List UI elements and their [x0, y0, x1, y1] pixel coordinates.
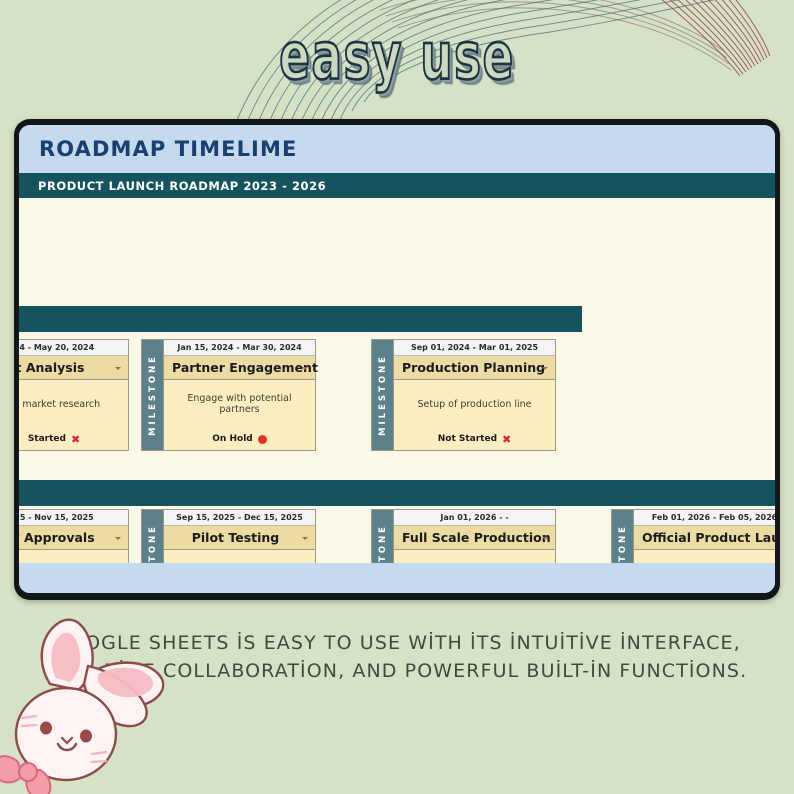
chevron-down-icon[interactable]	[302, 367, 308, 370]
milestone-rail: MILESTONE	[142, 340, 164, 450]
card-main: Jan 15, 2024 - Mar 30, 2024Partner Engag…	[164, 340, 315, 450]
card-header[interactable]: Partner Engagement	[164, 356, 315, 380]
card-title: Partner Engagement	[172, 360, 318, 375]
status-badge[interactable]: On Hold	[164, 428, 315, 450]
card-title: Full Scale Production	[402, 530, 551, 545]
card-date-range: Feb 01, 2026 - Feb 05, 2026	[634, 510, 775, 526]
card-gap	[129, 339, 141, 451]
status-label: Not Started	[438, 434, 497, 444]
status-label: Started	[28, 434, 66, 444]
chevron-down-icon[interactable]	[302, 537, 308, 540]
card-description: Setup of production line	[394, 380, 555, 428]
card-header[interactable]: Official Product Launch	[634, 526, 775, 550]
card-gap	[316, 339, 371, 451]
card-date-range: Sep 15, 2025 - Dec 15, 2025	[164, 510, 315, 526]
card-date-range: 24 - May 20, 2024	[19, 340, 128, 356]
status-badge[interactable]: Not Started✖	[394, 428, 555, 450]
card-date-range: 25 - Nov 15, 2025	[19, 510, 128, 526]
card-description: Engage with potential partners	[164, 380, 315, 428]
milestone-card[interactable]: MILESTONE24 - May 20, 2024t Analysisve m…	[19, 339, 129, 451]
card-header[interactable]: t Analysis	[19, 356, 128, 380]
milestone-rail-label: MILESTONE	[378, 354, 388, 436]
card-title: ry Approvals	[19, 530, 112, 545]
x-mark-icon: ✖	[502, 434, 511, 445]
sheet-footer-strip	[19, 563, 775, 593]
card-main: 24 - May 20, 2024t Analysisve market res…	[19, 340, 128, 450]
caption-line-1: GOOGLE SHEETS İS EASY TO USE WİTH İTS İN…	[0, 630, 794, 658]
caption-line-2: REAL-TİME COLLABORATİON, AND POWERFUL BU…	[0, 658, 794, 686]
timeline-bar-row2	[19, 480, 775, 506]
page-subtitle: PRODUCT LAUNCH ROADMAP 2023 - 2026	[38, 179, 326, 193]
chevron-down-icon[interactable]	[115, 367, 121, 370]
caption: GOOGLE SHEETS İS EASY TO USE WİTH İTS İN…	[0, 630, 794, 685]
card-date-range: Jan 01, 2026 - -	[394, 510, 555, 526]
headline-text: easy use	[279, 18, 515, 94]
chevron-down-icon[interactable]	[542, 537, 548, 540]
card-date-range: Jan 15, 2024 - Mar 30, 2024	[164, 340, 315, 356]
page-title: ROADMAP TIMELIME	[39, 137, 297, 161]
x-mark-icon: ✖	[71, 434, 80, 445]
card-title: t Analysis	[19, 360, 112, 375]
card-header[interactable]: Production Planning	[394, 356, 555, 380]
card-title: Production Planning	[402, 360, 545, 375]
spreadsheet-screen: ROADMAP TIMELIME PRODUCT LAUNCH ROADMAP …	[19, 125, 775, 593]
milestone-rail-label: MILESTONE	[148, 354, 158, 436]
milestone-row-1: MILESTONE24 - May 20, 2024t Analysisve m…	[19, 339, 775, 451]
status-badge[interactable]: Started✖	[19, 428, 128, 450]
red-dot-icon	[258, 435, 267, 444]
milestone-rail: MILESTONE	[372, 340, 394, 450]
chevron-down-icon[interactable]	[542, 367, 548, 370]
card-date-range: Sep 01, 2024 - Mar 01, 2025	[394, 340, 555, 356]
card-description: ve market research	[19, 380, 128, 428]
roadmap-body: MILESTONE24 - May 20, 2024t Analysisve m…	[19, 198, 775, 593]
milestone-card[interactable]: MILESTONESep 01, 2024 - Mar 01, 2025Prod…	[371, 339, 556, 451]
sheet-subtitle-bar: PRODUCT LAUNCH ROADMAP 2023 - 2026	[19, 173, 775, 198]
sheet-title-bar: ROADMAP TIMELIME	[19, 125, 775, 173]
timeline-bar-row1	[19, 306, 582, 332]
chevron-down-icon[interactable]	[115, 537, 121, 540]
card-header[interactable]: ry Approvals	[19, 526, 128, 550]
card-header[interactable]: Pilot Testing	[164, 526, 315, 550]
milestone-card[interactable]: MILESTONEJan 15, 2024 - Mar 30, 2024Part…	[141, 339, 316, 451]
status-label: On Hold	[212, 434, 252, 444]
promo-graphic: easy use ROADMAP TIMELIME PRODUCT LAUNCH…	[0, 0, 794, 794]
headline: easy use	[0, 22, 794, 90]
card-header[interactable]: Full Scale Production	[394, 526, 555, 550]
device-frame: ROADMAP TIMELIME PRODUCT LAUNCH ROADMAP …	[14, 119, 780, 600]
card-title: Pilot Testing	[172, 530, 299, 545]
card-title: Official Product Launch	[642, 530, 775, 545]
card-main: Sep 01, 2024 - Mar 01, 2025Production Pl…	[394, 340, 555, 450]
